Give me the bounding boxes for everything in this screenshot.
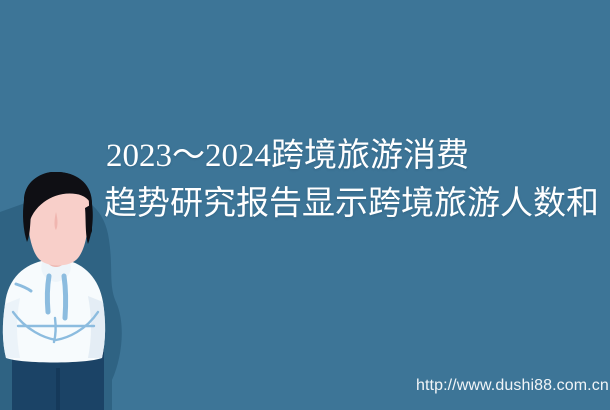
- headline-text: 2023～2024跨境旅游消费 趋势研究报告显示跨境旅游人数和: [106, 132, 606, 228]
- watermark-url: http://www.dushi88.com.cn: [416, 376, 609, 396]
- headline-line-2: 趋势研究报告显示跨境旅游人数和: [104, 180, 606, 228]
- poster-canvas: 2023～2024跨境旅游消费 趋势研究报告显示跨境旅游人数和 http://w…: [0, 0, 610, 410]
- headline-line-1: 2023～2024跨境旅游消费: [106, 132, 606, 180]
